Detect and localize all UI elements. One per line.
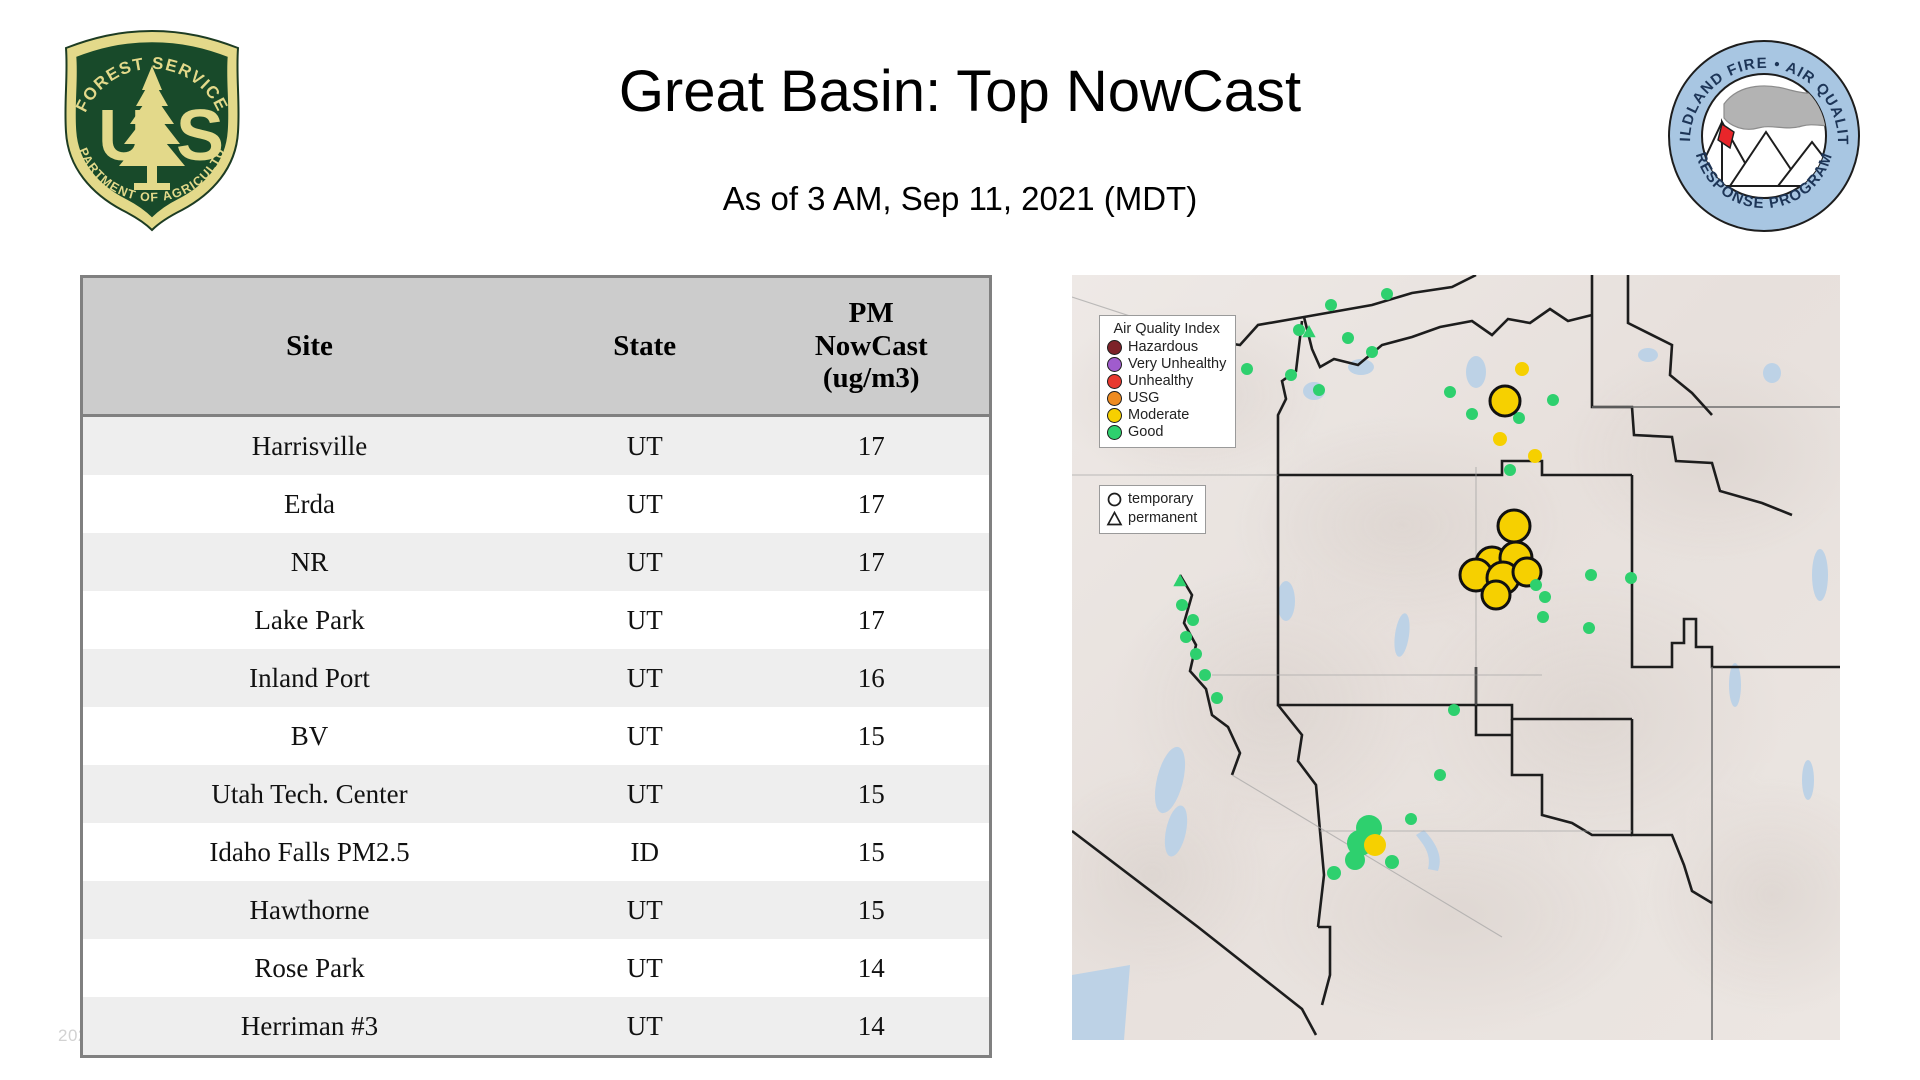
- pm-value-cell: 16: [753, 649, 989, 707]
- air-quality-map[interactable]: Air Quality Index HazardousVery Unhealth…: [1072, 275, 1840, 1040]
- nowcast-table: Site State PM NowCast (ug/m3) Harrisvill…: [83, 278, 989, 1055]
- nowcast-table-container: Site State PM NowCast (ug/m3) Harrisvill…: [80, 275, 992, 1058]
- state-cell: UT: [536, 997, 753, 1055]
- state-cell: UT: [536, 475, 753, 533]
- site-cell: BV: [83, 707, 536, 765]
- site-cell: Lake Park: [83, 591, 536, 649]
- state-cell: UT: [536, 765, 753, 823]
- legend-row-permanent: permanent: [1106, 509, 1197, 528]
- table-row: Utah Tech. CenterUT15: [83, 765, 989, 823]
- table-row: Herriman #3UT14: [83, 997, 989, 1055]
- aqi-monitor-marker[interactable]: [1583, 622, 1595, 634]
- state-cell: ID: [536, 823, 753, 881]
- aqi-monitor-marker[interactable]: [1498, 510, 1530, 542]
- table-row: HarrisvilleUT17: [83, 416, 989, 476]
- legend-label-permanent: permanent: [1128, 511, 1197, 526]
- legend-row-temporary: temporary: [1106, 490, 1197, 509]
- aqi-swatch-icon: [1107, 357, 1122, 372]
- pm-header-line3: (ug/m3): [823, 362, 920, 394]
- table-row: ErdaUT17: [83, 475, 989, 533]
- aqi-legend-label: Good: [1128, 425, 1163, 440]
- state-cell: UT: [536, 533, 753, 591]
- table-body: HarrisvilleUT17ErdaUT17NRUT17Lake ParkUT…: [83, 416, 989, 1056]
- site-cell: Erda: [83, 475, 536, 533]
- aqi-legend-item: Moderate: [1107, 407, 1226, 424]
- aqi-monitor-marker[interactable]: [1199, 669, 1211, 681]
- state-cell: UT: [536, 591, 753, 649]
- aqi-legend-item: USG: [1107, 390, 1226, 407]
- aqi-monitor-marker[interactable]: [1187, 614, 1199, 626]
- aqi-legend-item: Good: [1107, 424, 1226, 441]
- aqi-monitor-marker[interactable]: [1180, 631, 1192, 643]
- aqi-monitor-marker[interactable]: [1364, 834, 1386, 856]
- aqi-monitor-marker[interactable]: [1547, 394, 1559, 406]
- table-row: NRUT17: [83, 533, 989, 591]
- aqi-legend-item: Unhealthy: [1107, 373, 1226, 390]
- site-cell: NR: [83, 533, 536, 591]
- aqi-monitor-marker[interactable]: [1313, 384, 1325, 396]
- aqi-monitor-marker[interactable]: [1466, 408, 1478, 420]
- state-cell: UT: [536, 707, 753, 765]
- aqi-monitor-marker[interactable]: [1325, 299, 1337, 311]
- aqi-legend-label: Moderate: [1128, 408, 1189, 423]
- aqi-monitor-marker[interactable]: [1211, 692, 1223, 704]
- aqi-monitor-marker[interactable]: [1381, 288, 1393, 300]
- aqi-monitor-marker[interactable]: [1285, 369, 1297, 381]
- aqi-monitor-marker[interactable]: [1585, 569, 1597, 581]
- triangle-marker-icon: [1106, 510, 1123, 527]
- pm-value-cell: 17: [753, 416, 989, 476]
- site-cell: Harrisville: [83, 416, 536, 476]
- aqi-monitor-marker[interactable]: [1504, 464, 1516, 476]
- aqi-monitor-marker[interactable]: [1448, 704, 1460, 716]
- aqi-monitor-marker[interactable]: [1176, 599, 1188, 611]
- aqi-monitor-marker[interactable]: [1444, 386, 1456, 398]
- aqi-swatch-icon: [1107, 374, 1122, 389]
- pm-value-cell: 15: [753, 823, 989, 881]
- column-header-state: State: [536, 278, 753, 416]
- aqi-monitor-marker[interactable]: [1327, 866, 1341, 880]
- aqi-legend-rows: HazardousVery UnhealthyUnhealthyUSGModer…: [1107, 339, 1226, 441]
- pm-value-cell: 17: [753, 591, 989, 649]
- site-cell: Herriman #3: [83, 997, 536, 1055]
- pm-value-cell: 14: [753, 939, 989, 997]
- site-cell: Rose Park: [83, 939, 536, 997]
- site-type-legend: temporary permanent: [1099, 485, 1206, 534]
- site-cell: Idaho Falls PM2.5: [83, 823, 536, 881]
- state-cell: UT: [536, 939, 753, 997]
- site-cell: Inland Port: [83, 649, 536, 707]
- legend-label-temporary: temporary: [1128, 492, 1193, 507]
- aqi-monitor-marker[interactable]: [1190, 648, 1202, 660]
- aqi-legend-title: Air Quality Index: [1107, 321, 1226, 337]
- aqi-monitor-marker[interactable]: [1405, 813, 1417, 825]
- aqi-monitor-marker[interactable]: [1482, 581, 1510, 609]
- pm-value-cell: 14: [753, 997, 989, 1055]
- aqi-monitor-marker[interactable]: [1434, 769, 1446, 781]
- aqi-swatch-icon: [1107, 391, 1122, 406]
- aqi-monitor-marker[interactable]: [1490, 386, 1520, 416]
- table-row: Rose ParkUT14: [83, 939, 989, 997]
- aqi-monitor-marker[interactable]: [1515, 362, 1529, 376]
- aqi-legend-label: Very Unhealthy: [1128, 357, 1226, 372]
- page-subtitle: As of 3 AM, Sep 11, 2021 (MDT): [0, 180, 1920, 218]
- aqi-monitor-marker[interactable]: [1539, 591, 1551, 603]
- aqi-legend-label: Hazardous: [1128, 340, 1198, 355]
- table-header-row: Site State PM NowCast (ug/m3): [83, 278, 989, 416]
- pm-value-cell: 15: [753, 881, 989, 939]
- aqi-legend-item: Hazardous: [1107, 339, 1226, 356]
- aqi-monitor-marker[interactable]: [1293, 324, 1305, 336]
- aqi-monitor-marker[interactable]: [1530, 579, 1542, 591]
- table-row: HawthorneUT15: [83, 881, 989, 939]
- pm-value-cell: 17: [753, 533, 989, 591]
- pm-value-cell: 15: [753, 765, 989, 823]
- aqi-monitor-marker[interactable]: [1345, 850, 1365, 870]
- aqi-monitor-marker[interactable]: [1241, 363, 1253, 375]
- aqi-monitor-marker[interactable]: [1537, 611, 1549, 623]
- aqi-monitor-marker[interactable]: [1528, 449, 1542, 463]
- circle-marker-icon: [1106, 491, 1123, 508]
- column-header-pm-nowcast: PM NowCast (ug/m3): [753, 278, 989, 416]
- aqi-swatch-icon: [1107, 340, 1122, 355]
- page-title: Great Basin: Top NowCast: [0, 62, 1920, 123]
- table-row: Inland PortUT16: [83, 649, 989, 707]
- aqi-swatch-icon: [1107, 408, 1122, 423]
- state-cell: UT: [536, 416, 753, 476]
- aqi-legend-label: USG: [1128, 391, 1159, 406]
- aqi-monitor-marker[interactable]: [1385, 855, 1399, 869]
- table-row: Idaho Falls PM2.5ID15: [83, 823, 989, 881]
- state-cell: UT: [536, 881, 753, 939]
- table-row: BVUT15: [83, 707, 989, 765]
- pm-value-cell: 17: [753, 475, 989, 533]
- pm-header-line1: PM: [849, 297, 894, 329]
- usfs-shield-logo: FOREST SERVICE U S DEPARTMENT OF AGRICUL…: [52, 28, 252, 233]
- aqi-legend-item: Very Unhealthy: [1107, 356, 1226, 373]
- pm-value-cell: 15: [753, 707, 989, 765]
- aqi-monitor-marker[interactable]: [1625, 572, 1637, 584]
- site-cell: Hawthorne: [83, 881, 536, 939]
- table-header: Site State PM NowCast (ug/m3): [83, 278, 989, 416]
- aqi-swatch-icon: [1107, 425, 1122, 440]
- aqi-monitor-marker[interactable]: [1493, 432, 1507, 446]
- aqi-monitor-marker[interactable]: [1342, 332, 1354, 344]
- aqi-legend-label: Unhealthy: [1128, 374, 1193, 389]
- aqi-monitor-marker[interactable]: [1366, 346, 1378, 358]
- wildland-fire-air-quality-response-program-logo: WILDLAND FIRE • AIR QUALITY RESPONSE PRO…: [1666, 38, 1862, 234]
- column-header-site: Site: [83, 278, 536, 416]
- aqi-legend: Air Quality Index HazardousVery Unhealth…: [1099, 315, 1236, 448]
- pm-header-line2: NowCast: [815, 330, 928, 362]
- site-cell: Utah Tech. Center: [83, 765, 536, 823]
- table-row: Lake ParkUT17: [83, 591, 989, 649]
- state-cell: UT: [536, 649, 753, 707]
